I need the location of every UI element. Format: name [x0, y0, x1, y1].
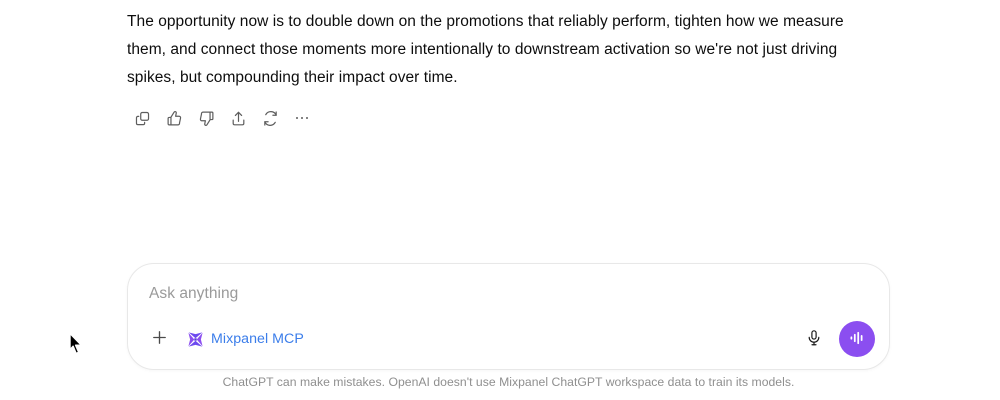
thumbs-up-button[interactable] — [158, 104, 190, 132]
voice-mode-button[interactable] — [839, 321, 875, 357]
footer-disclaimer: ChatGPT can make mistakes. OpenAI doesn'… — [127, 375, 890, 389]
thumbs-up-icon — [166, 110, 183, 127]
composer[interactable]: Ask anything — [127, 263, 890, 370]
thumbs-down-icon — [198, 110, 215, 127]
more-options-button[interactable] — [286, 104, 318, 132]
add-attachment-button[interactable] — [144, 324, 174, 354]
share-button[interactable] — [222, 104, 254, 132]
assistant-message-text: The opportunity now is to double down on… — [127, 8, 884, 92]
composer-toolbar: Mixpanel MCP — [128, 317, 889, 361]
mixpanel-mcp-label: Mixpanel MCP — [211, 331, 304, 347]
regenerate-icon — [262, 110, 279, 127]
composer-placeholder[interactable]: Ask anything — [149, 285, 238, 303]
message-action-bar — [126, 104, 318, 132]
mixpanel-mcp-chip[interactable]: Mixpanel MCP — [183, 328, 308, 351]
thumbs-down-button[interactable] — [190, 104, 222, 132]
copy-icon — [134, 110, 151, 127]
copy-button[interactable] — [126, 104, 158, 132]
voice-waveform-icon — [847, 328, 867, 351]
share-upload-icon — [230, 110, 247, 127]
plus-icon — [150, 328, 169, 350]
ellipsis-icon — [296, 117, 309, 120]
microphone-button[interactable] — [798, 323, 830, 355]
arrow-pointer-cursor — [66, 331, 86, 357]
microphone-icon — [805, 329, 823, 350]
mixpanel-x-icon — [187, 331, 204, 348]
chat-screen: The opportunity now is to double down on… — [0, 0, 1000, 400]
assistant-message: The opportunity now is to double down on… — [127, 8, 884, 92]
regenerate-button[interactable] — [254, 104, 286, 132]
